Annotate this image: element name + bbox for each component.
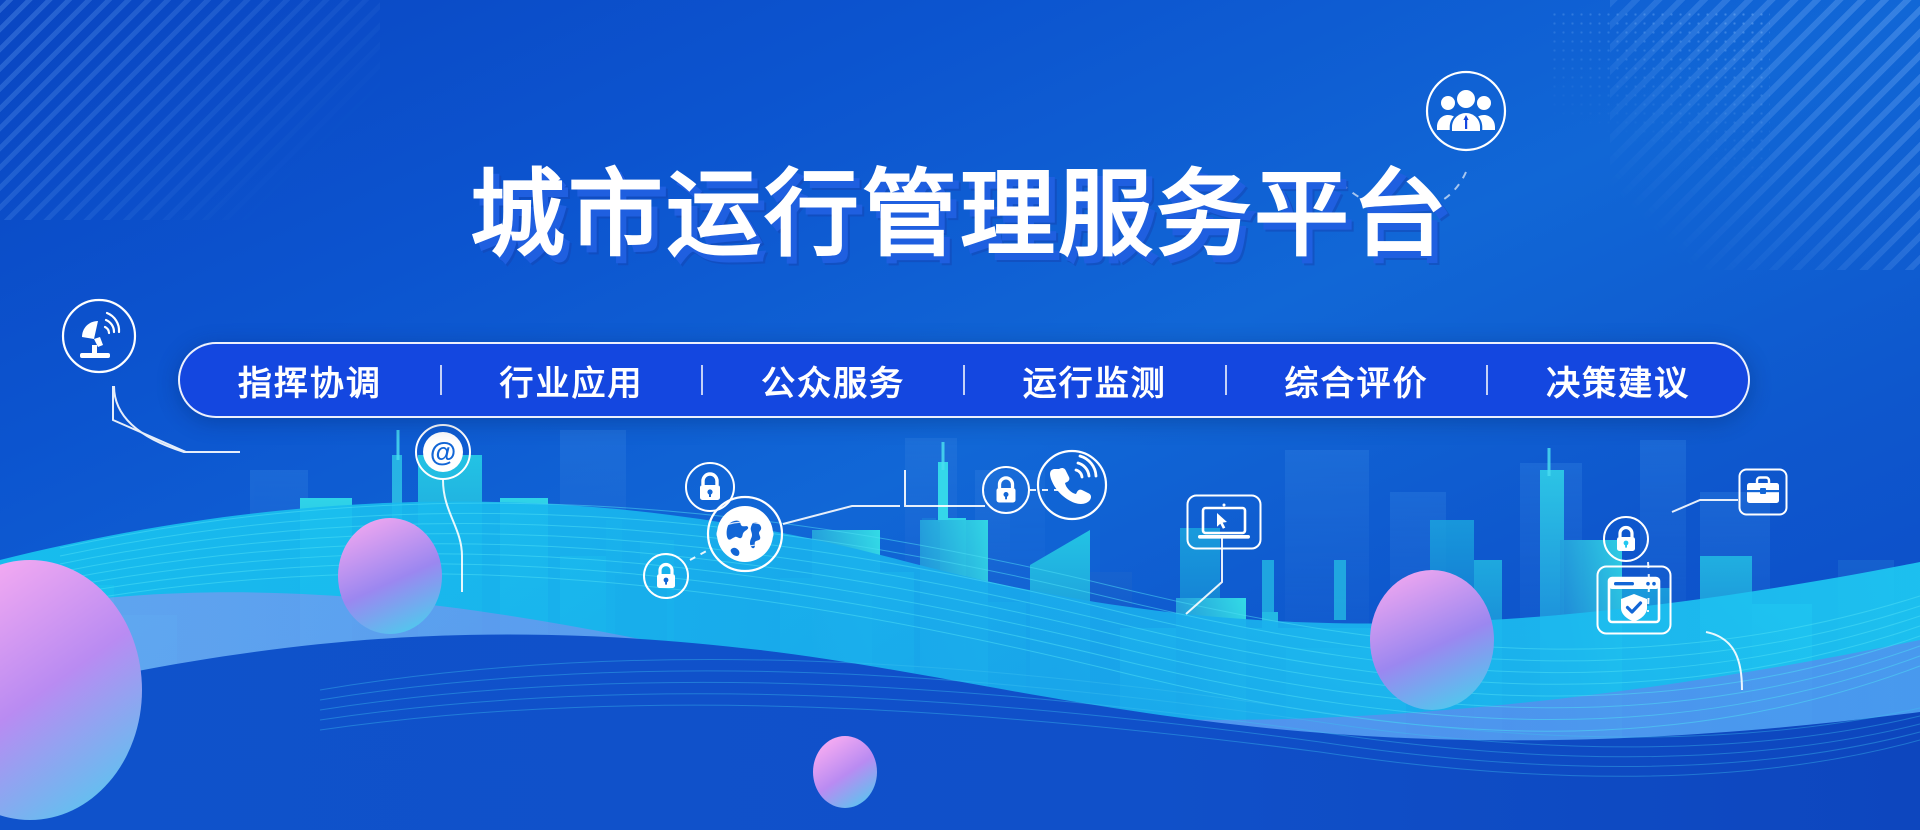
- primary-nav-bar[interactable]: 指挥协调 行业应用 公众服务 运行监测 综合评价 决策建议: [178, 342, 1750, 418]
- title-block: 城市运行管理服务平台: [0, 166, 1920, 266]
- browser-shield-icon[interactable]: [1596, 565, 1672, 635]
- svg-text:@: @: [430, 437, 456, 467]
- satellite-dish-icon[interactable]: [60, 297, 138, 375]
- banner-stage: @: [0, 0, 1920, 830]
- lock-icon-c[interactable]: [981, 465, 1031, 515]
- page-title: 城市运行管理服务平台: [470, 166, 1450, 266]
- nav-item-zonghe-pingjia[interactable]: 综合评价: [1274, 354, 1438, 407]
- nav-separator: [1486, 365, 1488, 395]
- nav-separator: [1225, 365, 1227, 395]
- nav-item-gongzhong-fuwu[interactable]: 公众服务: [751, 354, 915, 407]
- nav-separator: [440, 365, 442, 395]
- at-sign-icon[interactable]: @: [414, 423, 472, 481]
- nav-separator: [963, 365, 965, 395]
- nav-separator: [701, 365, 703, 395]
- nav-item-yunxing-jiance[interactable]: 运行监测: [1013, 354, 1177, 407]
- nav-item-juece-jianyi[interactable]: 决策建议: [1536, 354, 1700, 407]
- lock-icon-b[interactable]: [642, 552, 690, 600]
- briefcase-icon[interactable]: [1738, 468, 1788, 516]
- nav-item-zhihui-xietiao[interactable]: 指挥协调: [228, 354, 392, 407]
- globe-icon[interactable]: [705, 494, 785, 574]
- people-group-icon[interactable]: [1424, 69, 1508, 153]
- phone-signal-icon[interactable]: [1035, 448, 1109, 522]
- lock-icon-d[interactable]: [1602, 515, 1650, 563]
- laptop-cursor-icon[interactable]: [1186, 494, 1262, 550]
- nav-item-hangye-yingyong[interactable]: 行业应用: [489, 354, 653, 407]
